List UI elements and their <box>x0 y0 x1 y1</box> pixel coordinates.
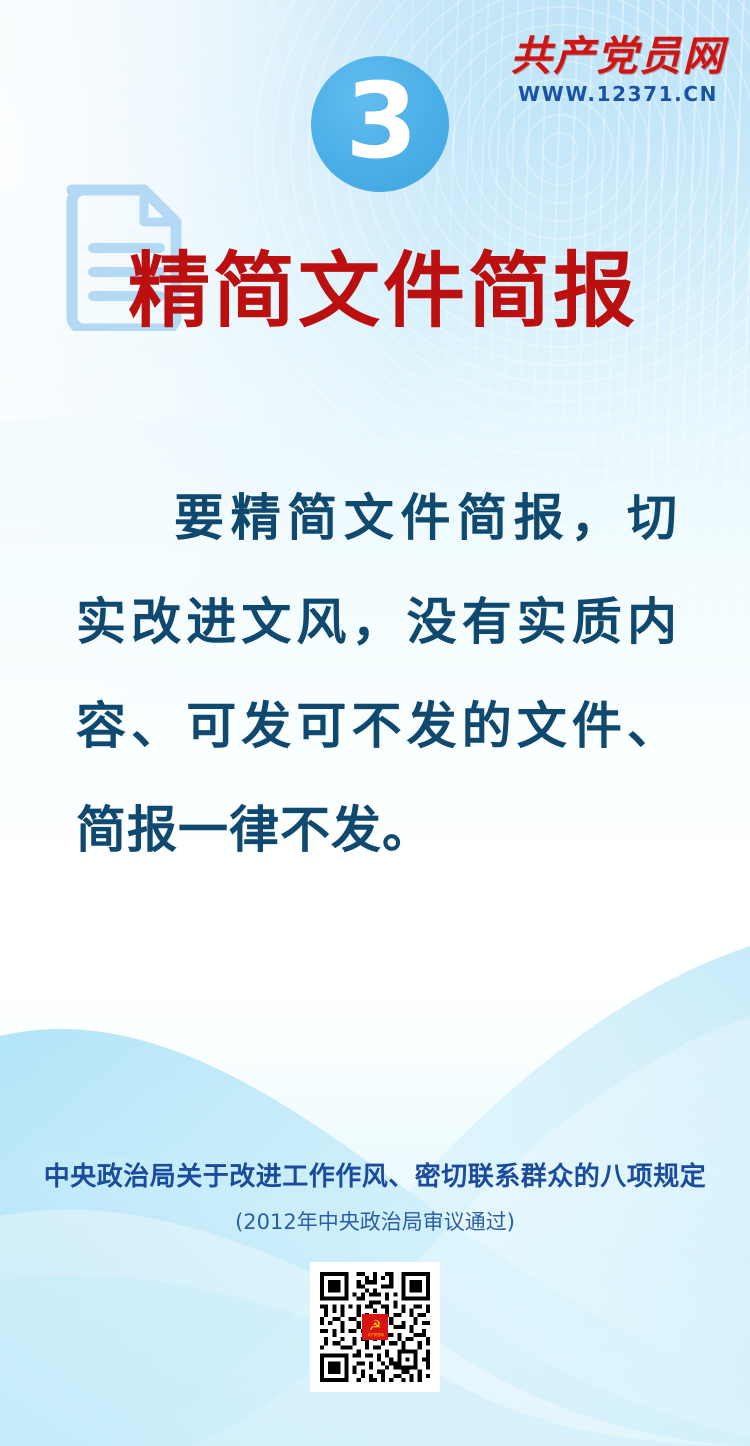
site-logo-text: 共产党员网 <box>510 36 726 77</box>
page-title: 精简文件简报 <box>0 251 750 333</box>
section-number-badge: 3 <box>311 56 449 192</box>
poster-root: 共产党员网 WWW.12371.CN 3 精简文件简报 要精简文件简报，切实改进… <box>0 0 750 1446</box>
section-number-label: 3 <box>345 69 417 173</box>
party-emblem-label: 共产党员网 <box>367 1333 383 1336</box>
hammer-sickle-icon: ☭ <box>369 1319 382 1333</box>
footer-subtitle: (2012年中央政治局审议通过) <box>0 1206 750 1236</box>
body-paragraph: 要精简文件简报，切实改进文风，没有实质内容、可发可不发的文件、简报一律不发。 <box>76 466 678 882</box>
site-logo[interactable]: 共产党员网 WWW.12371.CN <box>510 36 726 104</box>
footer-title: 中央政治局关于改进工作作风、密切联系群众的八项规定 <box>0 1156 750 1193</box>
qr-code[interactable]: ☭ 共产党员网 <box>310 1262 440 1392</box>
party-emblem-icon: ☭ 共产党员网 <box>362 1314 388 1340</box>
site-logo-url: WWW.12371.CN <box>510 84 726 104</box>
